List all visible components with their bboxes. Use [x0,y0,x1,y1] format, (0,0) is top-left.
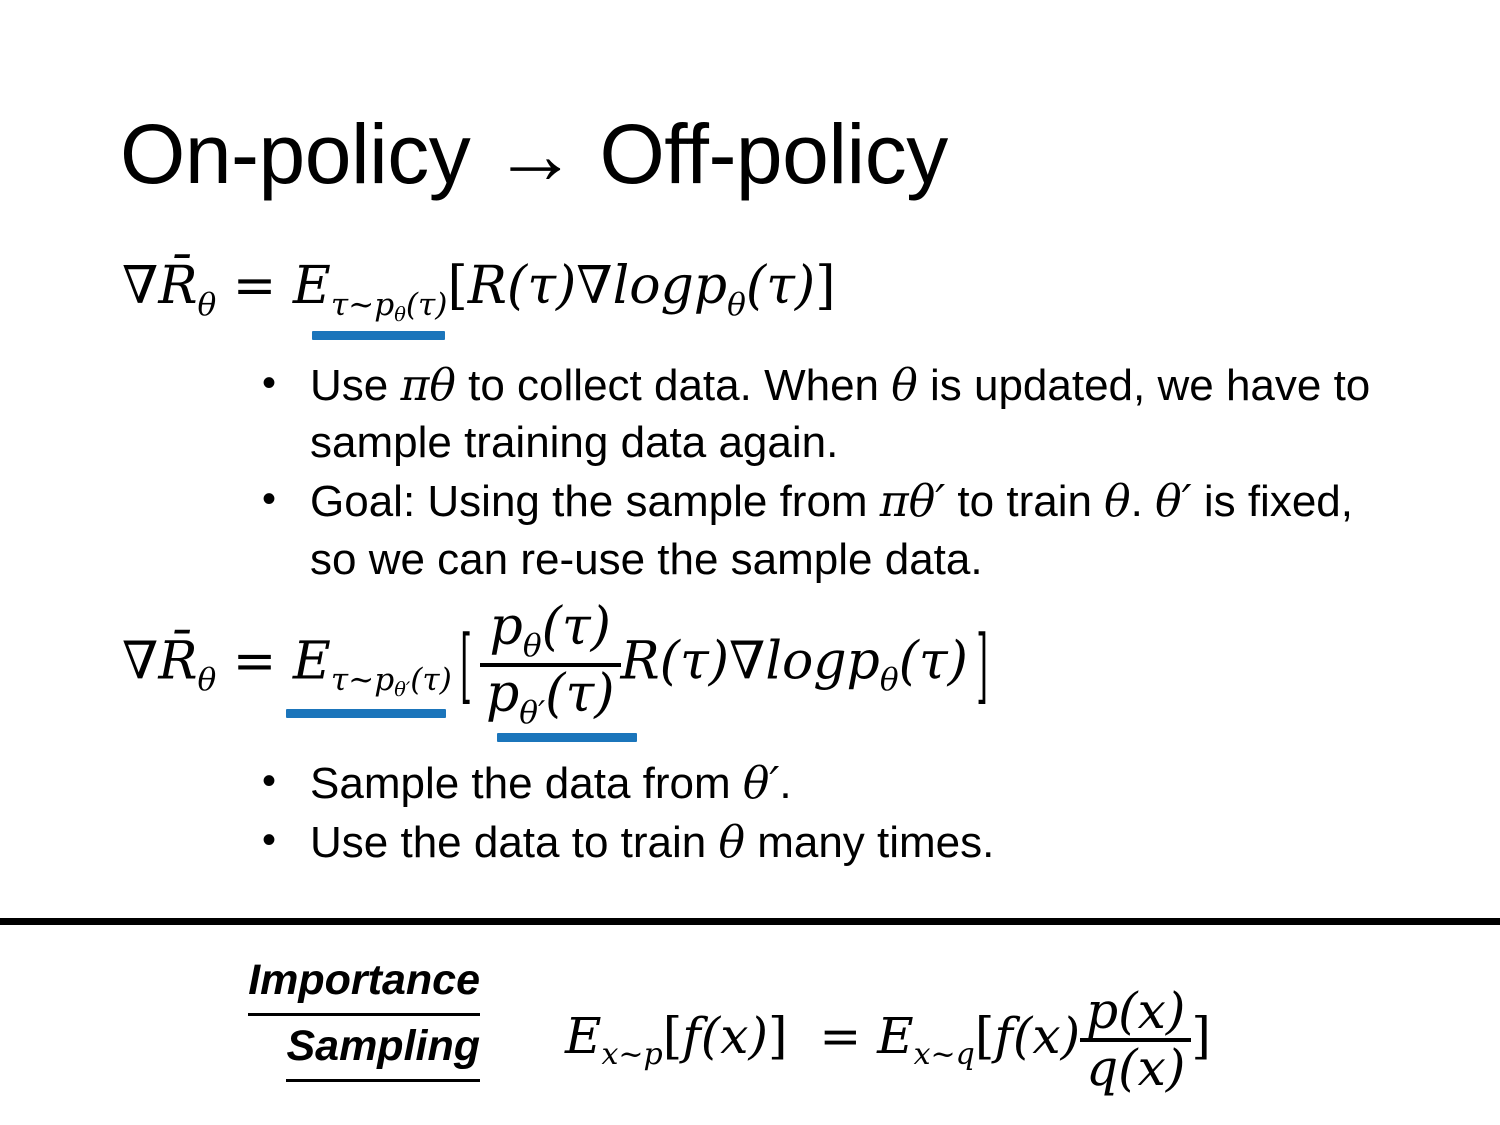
page-title: On-policy → Off-policy [120,112,948,196]
bullet-dot-icon: • [262,814,310,867]
bullet-2-mid: to train [945,477,1104,526]
bullet-2-pre: Goal: Using the sample from [310,477,880,526]
fraction-numerator: pθ(τ) [480,600,621,663]
bullet-4-post: many times. [745,818,994,867]
eq2-lhs-subscript: θ [197,662,216,698]
eq2-subscript-highlight-underline [286,709,446,718]
equation-importance-sampling: Ex~p[f(x)] = Ex~q[f(x)p(x)q(x)] [565,985,1211,1095]
eq1-expectation-subscript: τ~pθ(τ) [331,287,448,326]
fraction-denominator: q(x) [1080,1038,1191,1095]
bullet-1-pi-subscript: θ [429,360,456,411]
eq2-expectation-symbol: E [293,631,331,691]
bullet-4-pre: Use the data to train [310,818,718,867]
eq3-E-left-subscript: x~p [602,1037,663,1072]
eq2-logp-subscript: θ [880,662,899,698]
label-line-1: Importance [248,950,480,1016]
eq3-E-left: E [565,1007,602,1065]
eq3-f-left: f(x) [682,1007,768,1065]
eq1-logp-subscript: θ [727,287,746,323]
eq1-highlight-underline [312,331,445,340]
eq2-num-p: p [490,597,523,657]
eq2-num-subscript: θ [523,630,542,663]
eq1-sub-dist: τ~p [331,287,394,323]
eq2-sub-tail: (τ) [410,662,452,698]
bullet-1-theta: θ [891,360,918,411]
eq1-sub-tail: (τ) [406,287,448,323]
bullet-1-pi: π [400,360,429,411]
eq2-logp-tail: (τ) [899,631,968,691]
importance-weight-fraction: pθ(τ)pθ′(τ) [480,600,621,730]
horizontal-divider [0,918,1500,925]
slide-canvas: On-policy → Off-policy ∇R̄θ = Eτ~pθ(τ)[R… [0,0,1500,1125]
eq3-E-right-subscript: x~q [914,1037,975,1072]
list-item: • Use πθ to collect data. When θ is upda… [262,357,1382,471]
eq2-lhs-R: R̄ [158,631,197,691]
nabla-icon: ∇ [122,631,158,691]
bullet-text: Use πθ to collect data. When θ is update… [310,357,1382,471]
eq3-bracket-close-right: ] [1191,1007,1211,1065]
eq1-expectation-symbol: E [293,256,331,316]
eq2-reward-term: R(τ) [621,631,730,691]
bullet-2-theta-prime: θ′ [1155,476,1191,527]
list-item: • Sample the data from θ′. [262,755,1262,812]
eq3-f-right: f(x) [994,1007,1080,1065]
importance-sampling-label: Importance Sampling [150,950,480,1082]
eq1-bracket-open: [ [447,256,467,316]
bullet-2-mid2: . [1131,477,1155,526]
bullet-1-pre: Use [310,361,400,410]
list-item: • Goal: Using the sample from πθ′ to tra… [262,473,1382,587]
bullet-3-post: . [779,759,791,808]
eq2-den-tail: (τ) [545,664,614,724]
nabla-icon: ∇ [576,256,612,316]
bullet-dot-icon: • [262,357,310,410]
bullet-3-theta-prime: θ′ [743,758,779,809]
bullet-3-pre: Sample the data from [310,759,743,808]
eq1-lhs-subscript: θ [197,287,216,323]
eq2-bracket-close: ] [976,621,988,716]
eq1-equals: = [233,256,277,316]
bullet-text: Sample the data from θ′. [310,755,1262,812]
bullet-text: Use the data to train θ many times. [310,814,1262,871]
fraction-numerator: p(x) [1080,985,1191,1038]
label-line-2: Sampling [286,1016,480,1082]
eq3-equals: = [819,1007,861,1065]
eq3-bracket-open-left: [ [663,1007,683,1065]
eq2-num-tail: (τ) [542,597,611,657]
fraction-denominator: pθ′(τ) [480,663,621,730]
nabla-icon: ∇ [729,631,765,691]
eq2-expectation-subscript: τ~pθ′(τ) [331,662,452,701]
eq2-logp: logp [765,631,880,691]
eq2-sub-dist: τ~p [331,662,394,698]
bullet-dot-icon: • [262,473,310,526]
bullet-2-pi-subscript: θ′ [909,476,945,527]
eq1-lhs-R: R̄ [158,256,197,316]
eq2-bracket-open: [ [460,621,472,716]
equation-on-policy: ∇R̄θ = Eτ~pθ(τ)[R(τ)∇logpθ(τ)] [122,256,836,326]
bullet-1-mid: to collect data. When [456,361,891,410]
list-item: • Use the data to train θ many times. [262,814,1262,871]
bullet-list-upper: • Use πθ to collect data. When θ is upda… [262,357,1382,590]
bullet-list-lower: • Sample the data from θ′. • Use the dat… [262,755,1262,873]
bullet-2-pi: π [880,476,909,527]
bullet-text: Goal: Using the sample from πθ′ to train… [310,473,1382,587]
eq2-denominator-highlight-underline [497,733,637,742]
eq2-sub-theta-prime: θ′ [394,678,410,701]
eq1-reward-term: R(τ) [468,256,577,316]
nabla-icon: ∇ [122,256,158,316]
eq2-den-subscript: θ′ [519,697,545,730]
eq2-den-p: p [486,664,519,724]
eq3-bracket-close-left: ] [768,1007,788,1065]
eq1-logp: logp [613,256,728,316]
eq1-bracket-close: ] [815,256,835,316]
bullet-4-theta: θ [718,817,745,868]
eq1-sub-theta: θ [394,303,406,326]
eq1-logp-tail: (τ) [746,256,815,316]
eq3-bracket-open-right: [ [975,1007,995,1065]
bullet-2-theta: θ [1104,476,1131,527]
density-ratio-fraction: p(x)q(x) [1080,985,1191,1095]
bullet-dot-icon: • [262,755,310,808]
eq3-E-right: E [877,1007,914,1065]
eq2-equals: = [233,631,277,691]
equation-off-policy: ∇R̄θ = Eτ~pθ′(τ)[pθ(τ)pθ′(τ)R(τ)∇logpθ(τ… [122,600,996,730]
